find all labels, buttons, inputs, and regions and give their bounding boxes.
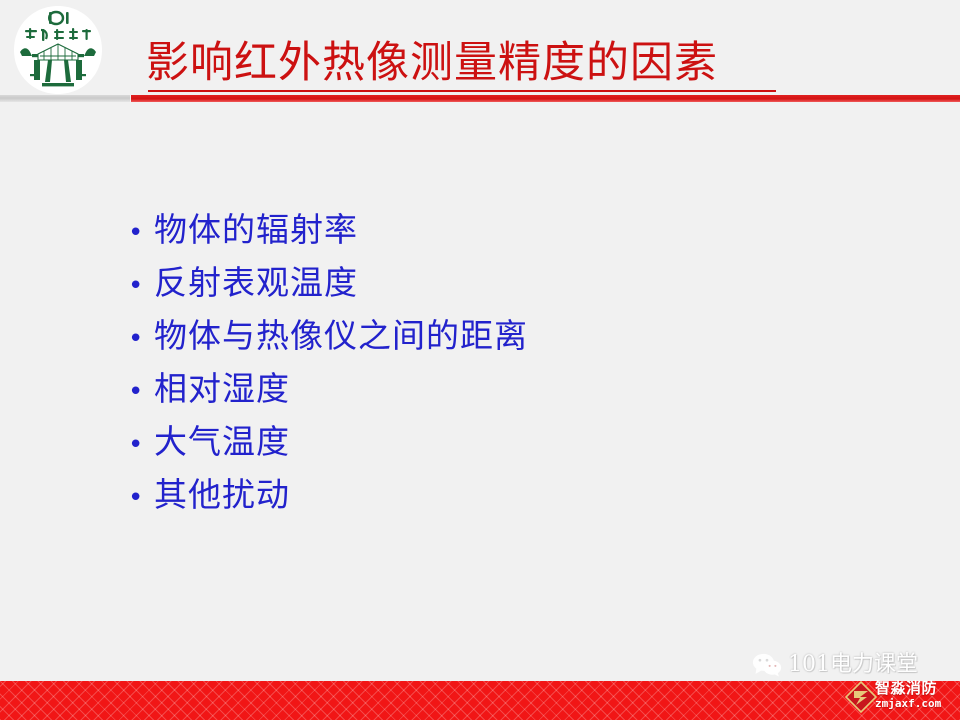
bullet-dot-icon: •	[128, 485, 154, 511]
list-item: • 大气温度	[128, 420, 888, 473]
presentation-slide: 影响红外热像测量精度的因素 • 物体的辐射率 • 反射表观温度 • 物体与热像仪…	[0, 0, 960, 720]
bullet-dot-icon: •	[128, 326, 154, 352]
bullet-dot-icon: •	[128, 220, 154, 246]
slide-header: 影响红外热像测量精度的因素	[0, 0, 960, 105]
wechat-icon	[752, 652, 782, 678]
list-item-label: 反射表观温度	[154, 261, 358, 305]
list-item: • 物体的辐射率	[128, 208, 888, 261]
watermark-label: 101电力课堂	[788, 652, 918, 678]
sponsor-name: 智淼消防	[875, 680, 937, 697]
title-underline	[148, 90, 776, 92]
channel-watermark: 101电力课堂	[752, 652, 918, 678]
bullet-dot-icon: •	[128, 379, 154, 405]
bullet-list: • 物体的辐射率 • 反射表观温度 • 物体与热像仪之间的距离 • 相对湿度 •…	[128, 208, 888, 526]
list-item-label: 物体的辐射率	[154, 208, 358, 252]
bullet-dot-icon: •	[128, 273, 154, 299]
footer-red-band	[0, 681, 960, 720]
list-item-label: 其他扰动	[154, 473, 290, 517]
list-item-label: 物体与热像仪之间的距离	[154, 314, 528, 358]
sponsor-domain: zmjaxf.com	[875, 697, 941, 710]
list-item-label: 大气温度	[154, 420, 290, 464]
header-rule-red	[131, 95, 960, 102]
list-item: • 相对湿度	[128, 367, 888, 420]
zhimiao-logo-mark-icon	[845, 681, 877, 713]
list-item: • 物体与热像仪之间的距离	[128, 314, 888, 367]
page-title: 影响红外热像测量精度的因素	[146, 36, 718, 90]
bullet-dot-icon: •	[128, 432, 154, 458]
list-item-label: 相对湿度	[154, 367, 290, 411]
list-item: • 反射表观温度	[128, 261, 888, 314]
organization-logo	[12, 4, 104, 96]
list-item: • 其他扰动	[128, 473, 888, 526]
sponsor-logo: 智淼消防 zmjaxf.com	[845, 679, 960, 717]
header-rule-gray	[0, 95, 130, 102]
